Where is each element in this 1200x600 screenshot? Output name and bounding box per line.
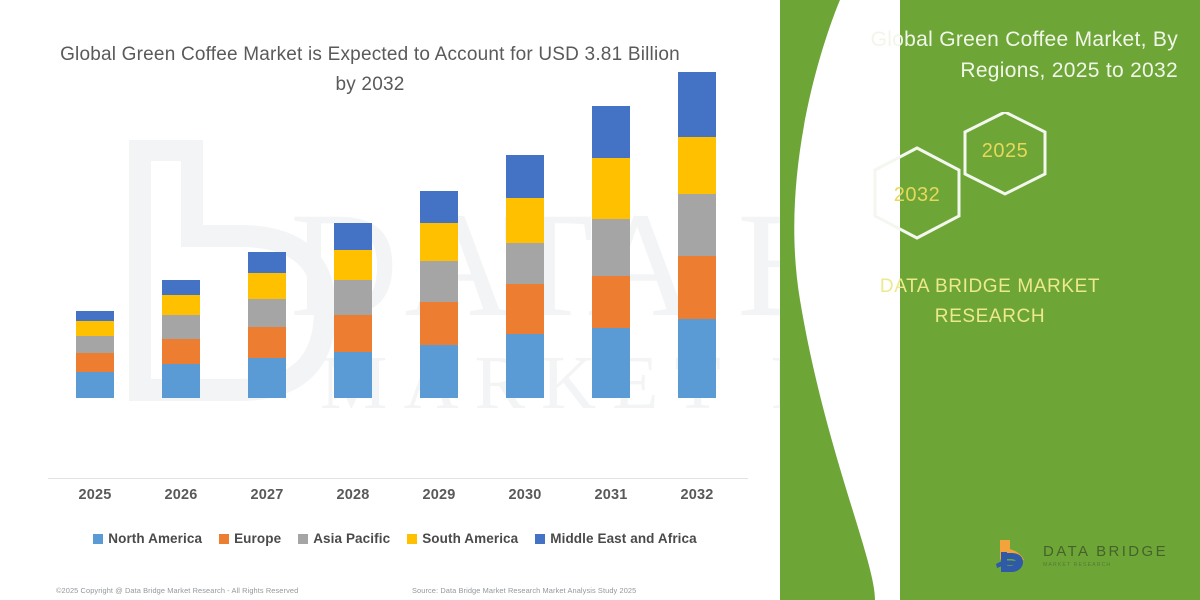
legend-item-north-america[interactable]: North America [93, 531, 202, 546]
bar-segment-south-america[interactable] [248, 273, 286, 299]
bar-segment-south-america[interactable] [162, 295, 200, 316]
bar-segment-europe[interactable] [592, 276, 630, 328]
bar-segment-asia-pacific[interactable] [592, 219, 630, 276]
bar-segment-north-america[interactable] [678, 319, 716, 398]
bar-segment-middle-east-and-africa[interactable] [420, 191, 458, 224]
bar-segment-europe[interactable] [506, 284, 544, 335]
bar-segment-asia-pacific[interactable] [420, 261, 458, 301]
bar-2029[interactable] [420, 191, 458, 398]
bar-segment-north-america[interactable] [76, 372, 114, 398]
bar-segment-middle-east-and-africa[interactable] [162, 280, 200, 295]
bar-segment-south-america[interactable] [678, 137, 716, 195]
bar-2028[interactable] [334, 223, 372, 398]
bar-segment-europe[interactable] [162, 339, 200, 365]
bar-segment-north-america[interactable] [248, 358, 286, 398]
dbmr-logo-name: DATA BRIDGE [1043, 544, 1168, 559]
bar-segment-middle-east-and-africa[interactable] [506, 155, 544, 197]
bar-segment-asia-pacific[interactable] [162, 315, 200, 338]
bar-segment-europe[interactable] [420, 302, 458, 345]
bar-segment-north-america[interactable] [420, 345, 458, 398]
hex-label-2032: 2032 [867, 184, 967, 207]
bar-2027[interactable] [248, 252, 286, 398]
bar-segment-middle-east-and-africa[interactable] [334, 223, 372, 251]
bar-segment-north-america[interactable] [592, 328, 630, 398]
legend-swatch-icon [407, 534, 417, 544]
x-tick-2030: 2030 [490, 487, 560, 503]
x-tick-2031: 2031 [576, 487, 646, 503]
legend-swatch-icon [298, 534, 308, 544]
x-tick-2029: 2029 [404, 487, 474, 503]
x-tick-2028: 2028 [318, 487, 388, 503]
legend-item-europe[interactable]: Europe [219, 531, 281, 546]
bar-segment-north-america[interactable] [334, 352, 372, 398]
footer-copyright: ©2025 Copyright @ Data Bridge Market Res… [56, 586, 298, 595]
bar-segment-south-america[interactable] [506, 198, 544, 244]
bar-2031[interactable] [592, 106, 630, 398]
chart-legend: North AmericaEuropeAsia PacificSouth Ame… [0, 531, 790, 546]
bar-segment-south-america[interactable] [420, 223, 458, 261]
bar-segment-asia-pacific[interactable] [678, 194, 716, 256]
bar-2025[interactable] [76, 311, 114, 398]
legend-label: North America [108, 531, 202, 546]
bar-segment-asia-pacific[interactable] [248, 299, 286, 327]
bar-segment-middle-east-and-africa[interactable] [248, 252, 286, 274]
bar-2030[interactable] [506, 155, 544, 398]
bar-segment-middle-east-and-africa[interactable] [76, 311, 114, 321]
panel-brand-line2: RESEARCH [780, 302, 1200, 332]
bar-segment-asia-pacific[interactable] [506, 243, 544, 283]
legend-item-asia-pacific[interactable]: Asia Pacific [298, 531, 390, 546]
legend-swatch-icon [93, 534, 103, 544]
bar-segment-middle-east-and-africa[interactable] [678, 72, 716, 137]
legend-label: Asia Pacific [313, 531, 390, 546]
x-tick-2032: 2032 [662, 487, 732, 503]
panel-brand: DATA BRIDGE MARKET RESEARCH [780, 272, 1200, 332]
x-axis-line [48, 478, 748, 479]
bar-segment-asia-pacific[interactable] [76, 336, 114, 353]
green-side-panel: Global Green Coffee Market, By Regions, … [780, 0, 1200, 600]
bar-segment-south-america[interactable] [334, 250, 372, 280]
panel-title: Global Green Coffee Market, By Regions, … [820, 24, 1178, 86]
dbmr-logo: DATA BRIDGE MARKET RESEARCH [994, 538, 1168, 574]
legend-label: Europe [234, 531, 281, 546]
bar-segment-middle-east-and-africa[interactable] [592, 106, 630, 158]
bar-segment-south-america[interactable] [76, 321, 114, 336]
hex-label-2025: 2025 [955, 140, 1055, 163]
footer-source: Source: Data Bridge Market Research Mark… [412, 586, 636, 595]
bar-segment-europe[interactable] [248, 327, 286, 358]
chart-plot-area: 20252026202720282029203020312032 [0, 0, 800, 520]
legend-label: South America [422, 531, 518, 546]
bar-segment-north-america[interactable] [506, 334, 544, 398]
legend-item-middle-east-and-africa[interactable]: Middle East and Africa [535, 531, 696, 546]
bar-segment-north-america[interactable] [162, 364, 200, 398]
hexagon-badges: 2032 2025 [780, 112, 1200, 242]
bar-segment-europe[interactable] [76, 353, 114, 372]
legend-item-south-america[interactable]: South America [407, 531, 518, 546]
bar-segment-asia-pacific[interactable] [334, 280, 372, 314]
x-tick-2025: 2025 [60, 487, 130, 503]
bar-2032[interactable] [678, 72, 716, 398]
x-tick-2027: 2027 [232, 487, 302, 503]
bar-segment-south-america[interactable] [592, 158, 630, 219]
dbmr-logo-mark [994, 538, 1034, 574]
x-tick-2026: 2026 [146, 487, 216, 503]
bar-segment-europe[interactable] [334, 315, 372, 352]
legend-swatch-icon [535, 534, 545, 544]
dbmr-logo-tagline: MARKET RESEARCH [1043, 563, 1168, 568]
bar-2026[interactable] [162, 280, 200, 398]
panel-brand-line1: DATA BRIDGE MARKET [780, 272, 1200, 302]
bar-segment-europe[interactable] [678, 256, 716, 319]
legend-swatch-icon [219, 534, 229, 544]
infographic-page: DATA BRIDGE MARKET RESEARCH Global Green… [0, 0, 1200, 600]
legend-label: Middle East and Africa [550, 531, 696, 546]
